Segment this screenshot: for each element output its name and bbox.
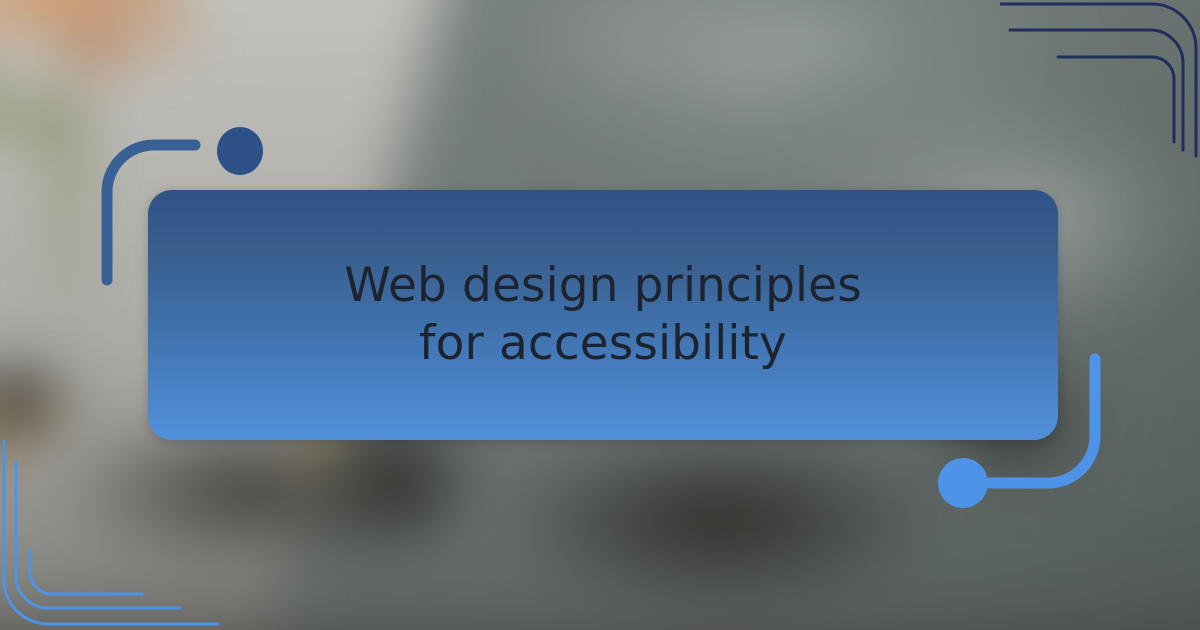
title-card: Web design principles for accessibility: [148, 190, 1058, 440]
banner-canvas: Web design principles for accessibility: [0, 0, 1200, 630]
page-title: Web design principles for accessibility: [344, 257, 862, 373]
